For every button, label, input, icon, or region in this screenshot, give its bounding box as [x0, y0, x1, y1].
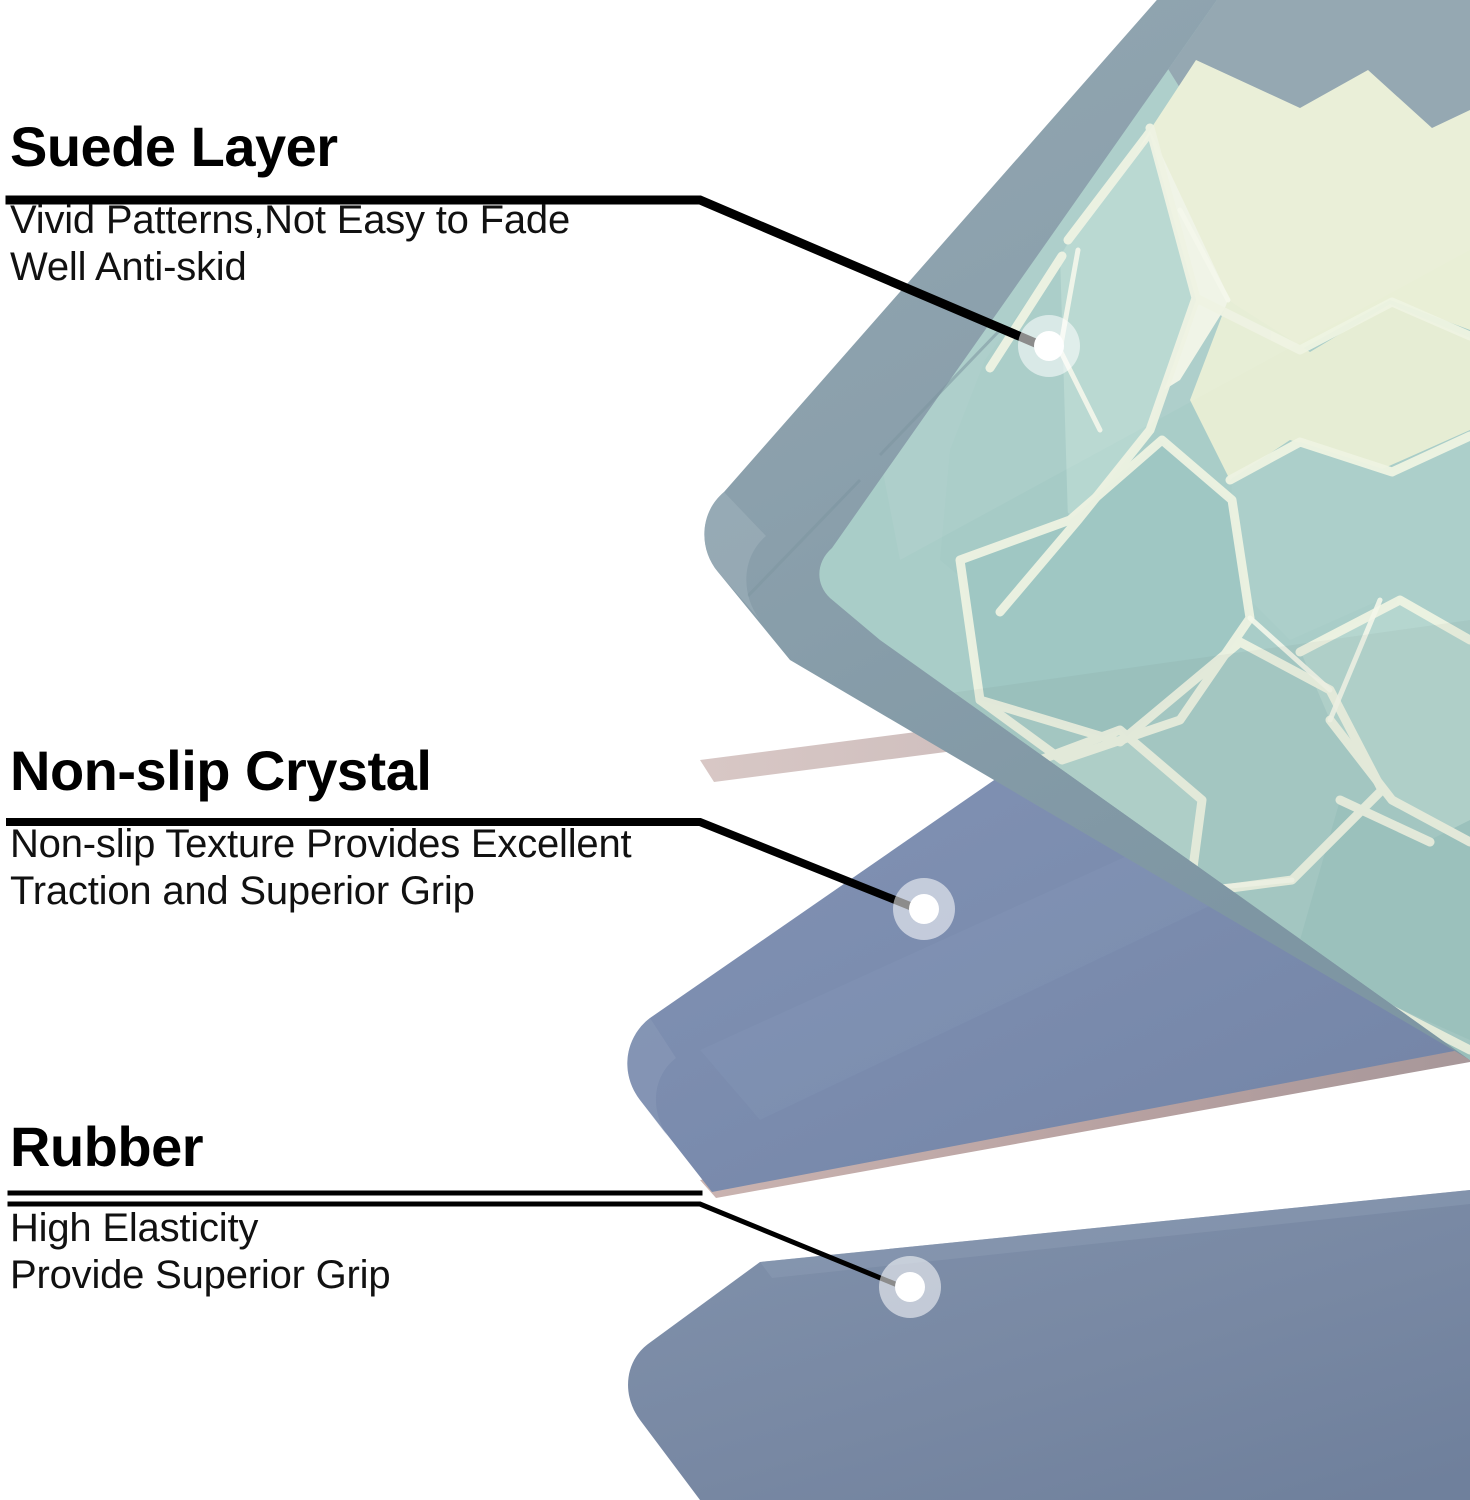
callout-crystal-line-1: Non-slip Texture Provides Excellent: [10, 821, 631, 868]
callout-rubber-line-2: Provide Superior Grip: [10, 1252, 390, 1299]
callout-rubber-title: Rubber: [10, 1118, 390, 1175]
callout-crystal-description: Non-slip Texture Provides Excellent Trac…: [10, 821, 631, 915]
callout-dot-suede-icon: [1018, 315, 1080, 377]
rubber-layer-shape: [628, 1190, 1470, 1500]
callout-crystal-line-2: Traction and Superior Grip: [10, 868, 631, 915]
callout-rubber-line-1: High Elasticity: [10, 1205, 390, 1252]
callout-crystal: Non-slip Crystal Non-slip Texture Provid…: [10, 742, 631, 915]
callout-rubber-description: High Elasticity Provide Superior Grip: [10, 1205, 390, 1299]
callout-suede-title: Suede Layer: [10, 118, 570, 175]
callout-suede-line-1: Vivid Patterns,Not Easy to Fade: [10, 197, 570, 244]
callout-suede: Suede Layer Vivid Patterns,Not Easy to F…: [10, 118, 570, 291]
callout-crystal-title: Non-slip Crystal: [10, 742, 631, 799]
infographic-canvas: Suede Layer Vivid Patterns,Not Easy to F…: [0, 0, 1470, 1500]
callout-suede-line-2: Well Anti-skid: [10, 244, 570, 291]
callout-suede-description: Vivid Patterns,Not Easy to Fade Well Ant…: [10, 197, 570, 291]
callout-rubber: Rubber High Elasticity Provide Superior …: [10, 1118, 390, 1299]
callout-dot-rubber-icon: [879, 1256, 941, 1318]
callout-dot-crystal-icon: [893, 878, 955, 940]
